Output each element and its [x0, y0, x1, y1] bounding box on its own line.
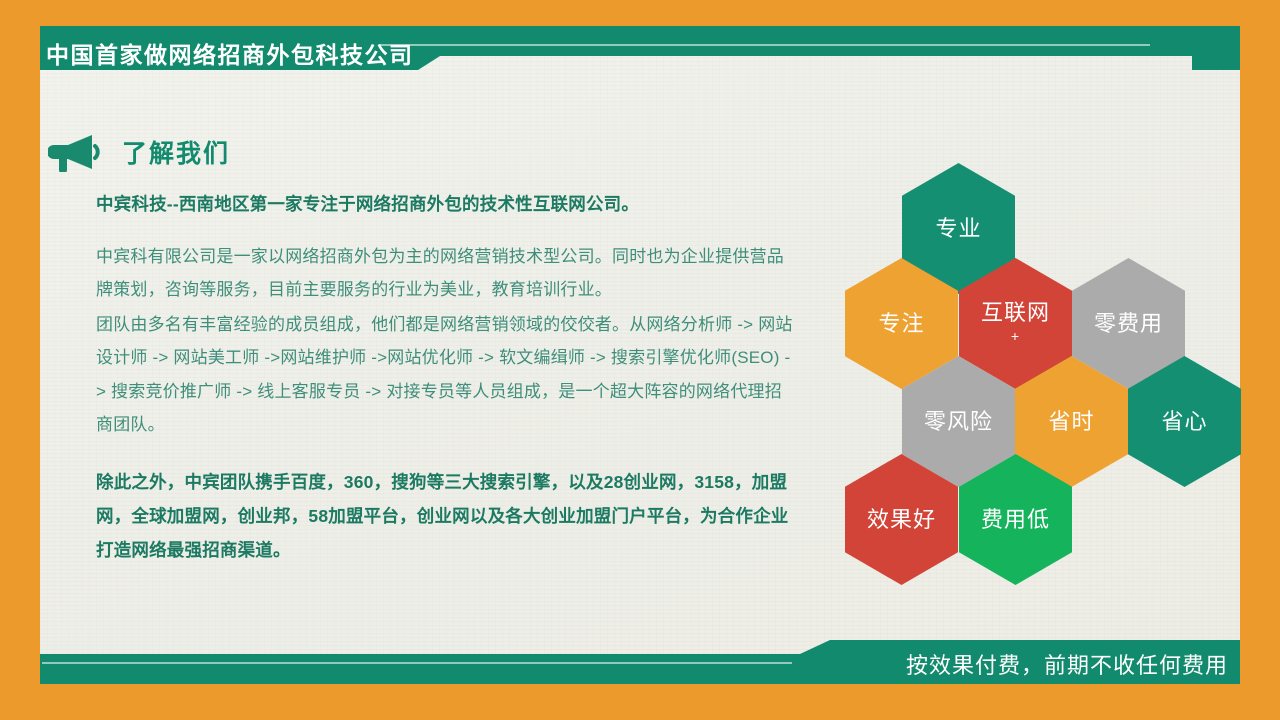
hexagon-label: 费用低: [981, 507, 1050, 532]
section-title: 了解我们: [122, 134, 230, 170]
hexagon-cluster: 专业专注互联网+零费用零风险省时省心效果好费用低: [840, 160, 1240, 540]
hexagon-sublabel: +: [1011, 326, 1020, 347]
header-accent-line: [380, 44, 1150, 46]
hexagon-label: 省心: [1161, 409, 1207, 434]
footer-tagline: 按效果付费，前期不收任何费用: [906, 648, 1228, 680]
closing-paragraph: 除此之外，中宾团队携手百度，360，搜狗等三大搜索引擎，以及28创业网，3158…: [96, 465, 796, 567]
hexagon-label: 专注: [878, 311, 924, 336]
megaphone-icon: [48, 132, 100, 172]
slide-root: 中国首家做网络招商外包科技公司 了解我们 中宾科技--西南地区第一家专注于网络招…: [0, 0, 1280, 720]
lead-paragraph: 中宾科技--西南地区第一家专注于网络招商外包的技术性互联网公司。: [96, 190, 796, 218]
page-title: 中国首家做网络招商外包科技公司: [46, 36, 414, 70]
section-heading: 了解我们: [48, 132, 230, 172]
hexagon-label: 互联网: [981, 300, 1050, 325]
hexagon-label: 效果好: [867, 507, 936, 532]
body-paragraph-2: 团队由多名有丰富经验的成员组成，他们都是网络营销领域的佼佼者。从网络分析师 ->…: [96, 308, 796, 441]
hexagon-label: 专业: [935, 216, 981, 241]
hexagon-label: 零风险: [924, 409, 993, 434]
footer-accent-line: [42, 662, 792, 664]
body-paragraph-1: 中宾科有限公司是一家以网络招商外包为主的网络营销技术型公司。同时也为企业提供营品…: [96, 240, 796, 306]
hexagon-label: 零费用: [1094, 311, 1163, 336]
about-text-block: 中宾科技--西南地区第一家专注于网络招商外包的技术性互联网公司。 中宾科有限公司…: [96, 190, 796, 567]
hexagon-label: 省时: [1048, 409, 1094, 434]
